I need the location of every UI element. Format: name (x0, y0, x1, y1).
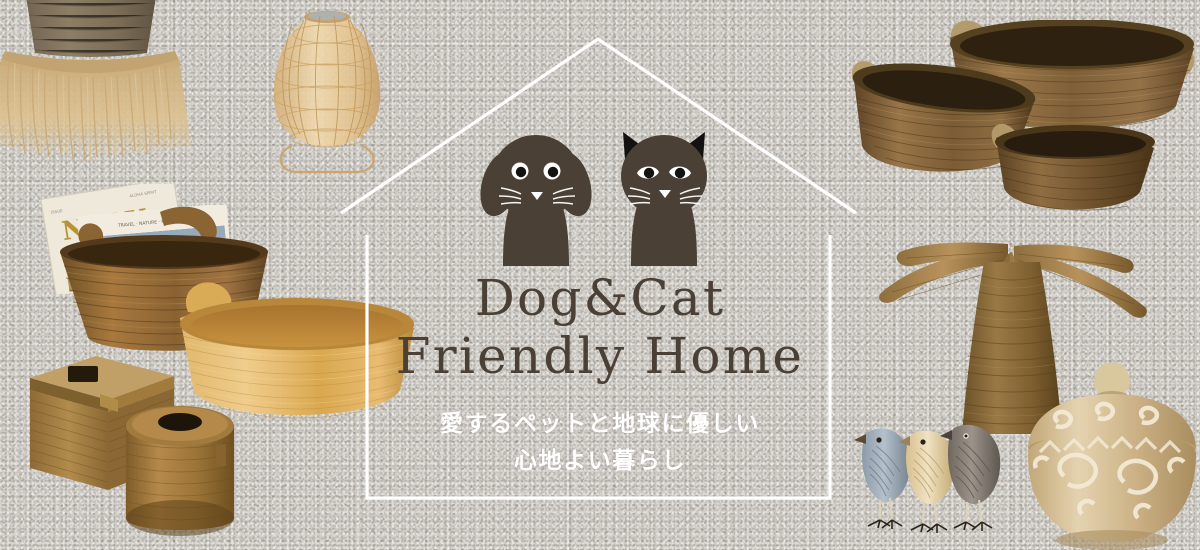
house-outline-frame (0, 0, 1200, 550)
house-roof-line (341, 39, 856, 213)
hero-banner: NALU ALOHA SPIRIT ISSUE O'AHU TRAVEL · N… (0, 0, 1200, 550)
house-wall-line (367, 235, 830, 498)
